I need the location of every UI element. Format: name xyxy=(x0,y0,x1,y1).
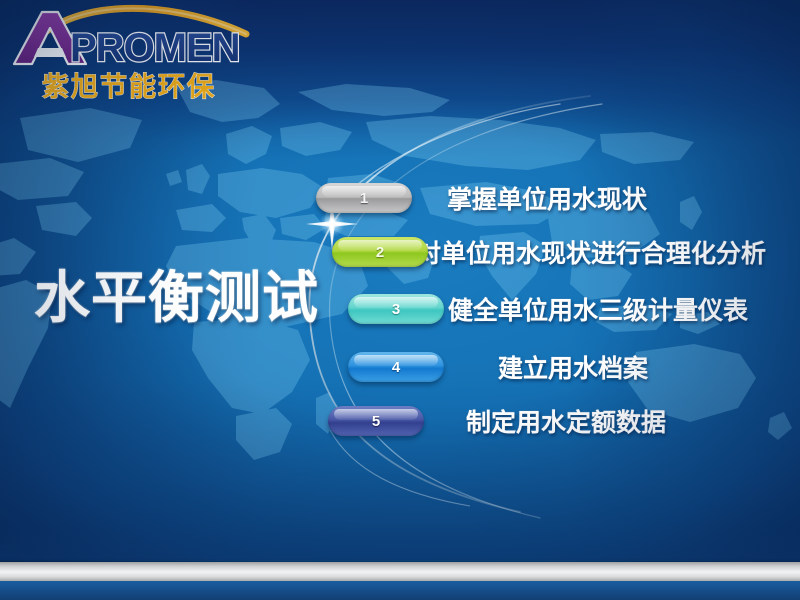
list-item-label: 建立用水档案 xyxy=(498,349,648,385)
step-number: 5 xyxy=(328,406,424,436)
step-badge[interactable]: 3 xyxy=(348,294,444,324)
step-badge[interactable]: 1 xyxy=(316,183,412,213)
step-number: 4 xyxy=(348,352,444,382)
list-item[interactable]: 1 掌握单位用水现状 xyxy=(316,180,647,216)
footer-shade xyxy=(0,524,800,562)
list-item-label: 健全单位用水三级计量仪表 xyxy=(448,291,748,327)
company-logo: PROMEN 紫旭节能环保 xyxy=(8,4,270,104)
list-item-label: 掌握单位用水现状 xyxy=(447,180,647,216)
svg-text:紫旭节能环保: 紫旭节能环保 xyxy=(42,71,216,102)
list-item[interactable]: 3 健全单位用水三级计量仪表 xyxy=(348,291,748,327)
step-number: 3 xyxy=(348,294,444,324)
step-number: 1 xyxy=(316,183,412,213)
page-title: 水平衡测试 xyxy=(34,270,319,326)
list-item-label: 制定用水定额数据 xyxy=(466,403,666,439)
step-badge[interactable]: 5 xyxy=(328,406,424,436)
step-badge[interactable]: 2 xyxy=(332,237,428,267)
list-item[interactable]: 5 制定用水定额数据 xyxy=(328,403,666,439)
list-item-label: 对单位用水现状进行合理化分析 xyxy=(416,234,766,270)
footer-band xyxy=(0,581,800,600)
list-item[interactable]: 2 对单位用水现状进行合理化分析 xyxy=(332,234,766,270)
step-number: 2 xyxy=(332,237,428,267)
silver-divider-band xyxy=(0,562,800,581)
slide-canvas: PROMEN 紫旭节能环保 水平衡测试 1 掌握单位用水现状 2 对单位用水现状… xyxy=(0,0,800,600)
step-badge[interactable]: 4 xyxy=(348,352,444,382)
list-item[interactable]: 4 建立用水档案 xyxy=(348,349,648,385)
svg-text:PROMEN: PROMEN xyxy=(70,26,240,70)
